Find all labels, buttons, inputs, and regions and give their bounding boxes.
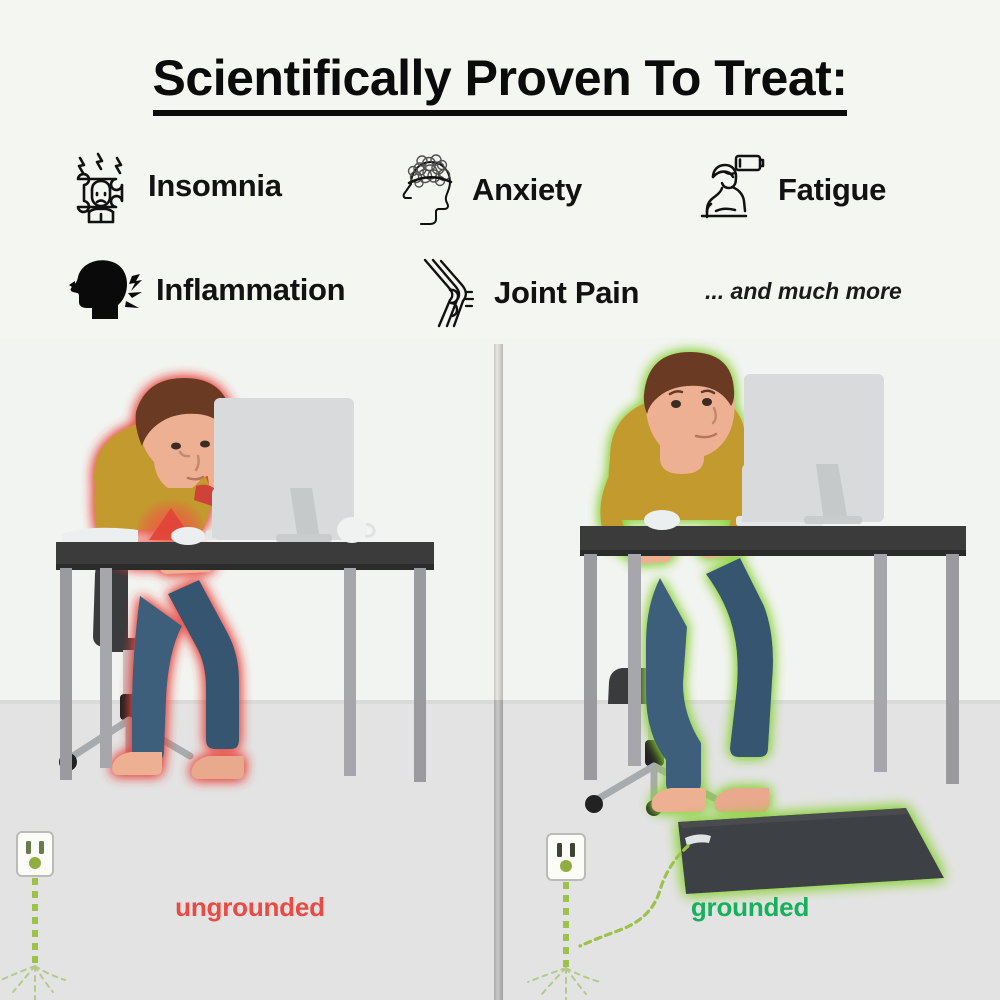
knee-joint-icon <box>420 256 482 330</box>
caption-grounded: grounded <box>500 892 1000 923</box>
insomnia-pillow-icon <box>66 146 136 226</box>
condition-label: Fatigue <box>778 172 886 208</box>
grounding-mat <box>678 808 944 894</box>
tired-person-low-battery-icon <box>690 150 766 230</box>
desk <box>580 526 966 784</box>
office-chair <box>59 557 190 774</box>
head-pain-silhouette-icon <box>62 255 144 325</box>
condition-fatigue: Fatigue <box>690 150 886 230</box>
condition-anxiety: Anxiety <box>398 152 582 228</box>
page-title: Scientifically Proven To Treat: <box>153 52 848 116</box>
condition-label: Joint Pain <box>494 275 639 311</box>
and-much-more-label: ... and much more <box>705 278 902 304</box>
condition-inflammation: Inflammation <box>62 255 345 325</box>
panel-grounded: grounded <box>500 338 1000 1000</box>
anxious-head-scribble-icon <box>398 152 460 228</box>
caption-ungrounded: ungrounded <box>0 892 500 923</box>
condition-insomnia: Insomnia <box>66 146 282 226</box>
comparison-illustration: ungrounded <box>0 338 1000 1000</box>
condition-label: Insomnia <box>148 168 282 204</box>
page-title-wrap: Scientifically Proven To Treat: <box>0 52 1000 116</box>
poster-root: Scientifically Proven To Treat: In <box>0 0 1000 1000</box>
condition-jointpain: Joint Pain <box>420 256 639 330</box>
and-much-more-note: ... and much more <box>705 278 902 305</box>
condition-label: Inflammation <box>156 272 345 308</box>
panel-ungrounded: ungrounded <box>0 338 500 1000</box>
panel-divider-pole-lower <box>494 700 503 1000</box>
condition-label: Anxiety <box>472 172 582 208</box>
